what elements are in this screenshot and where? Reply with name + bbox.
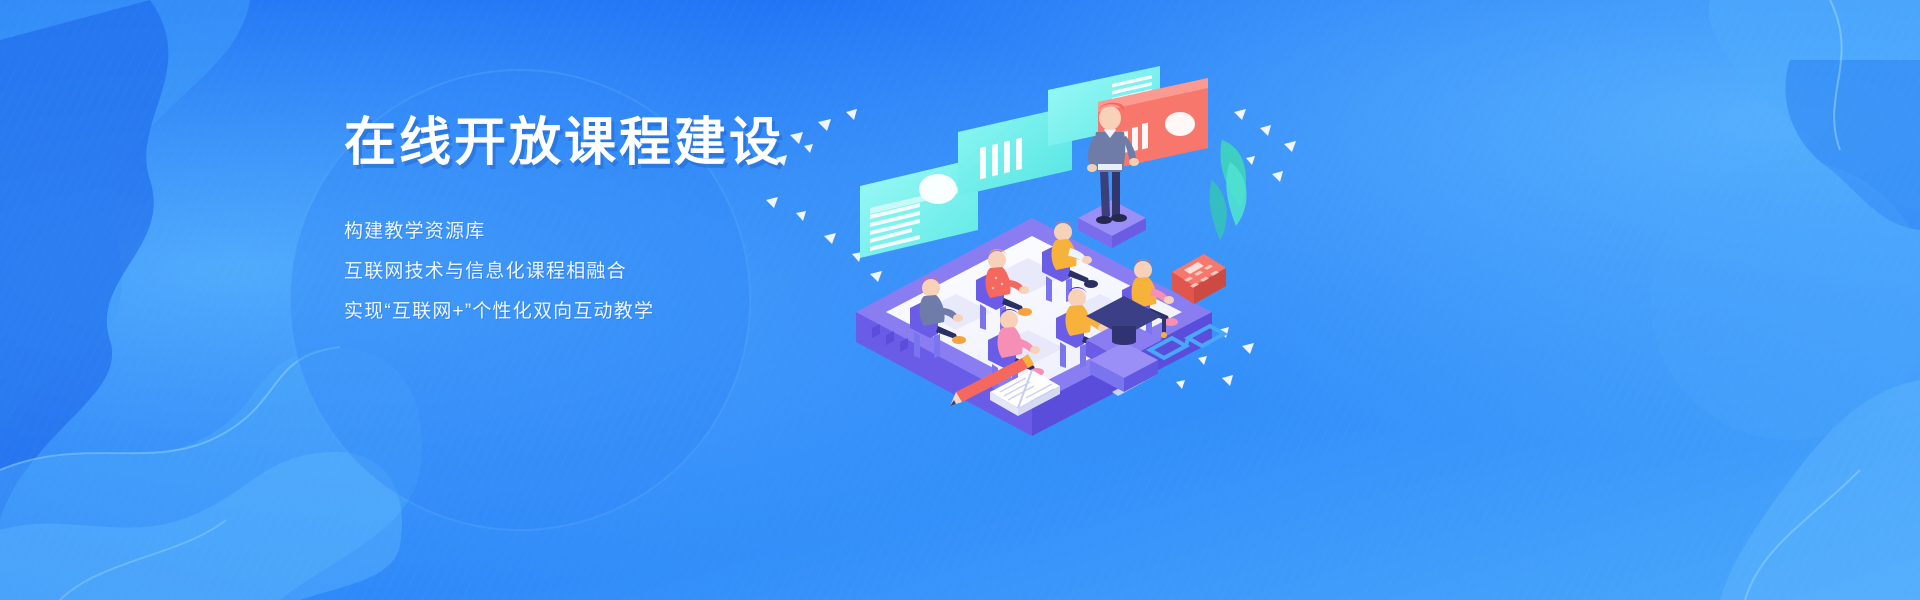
illustration-online-classroom xyxy=(760,40,1320,440)
hero-banner: 在线开放课程建设 构建教学资源库 互联网技术与信息化课程相融合 实现“互联网+”… xyxy=(0,0,1920,600)
illustration-svg xyxy=(760,40,1320,440)
plant-leaves-icon xyxy=(1210,140,1247,240)
